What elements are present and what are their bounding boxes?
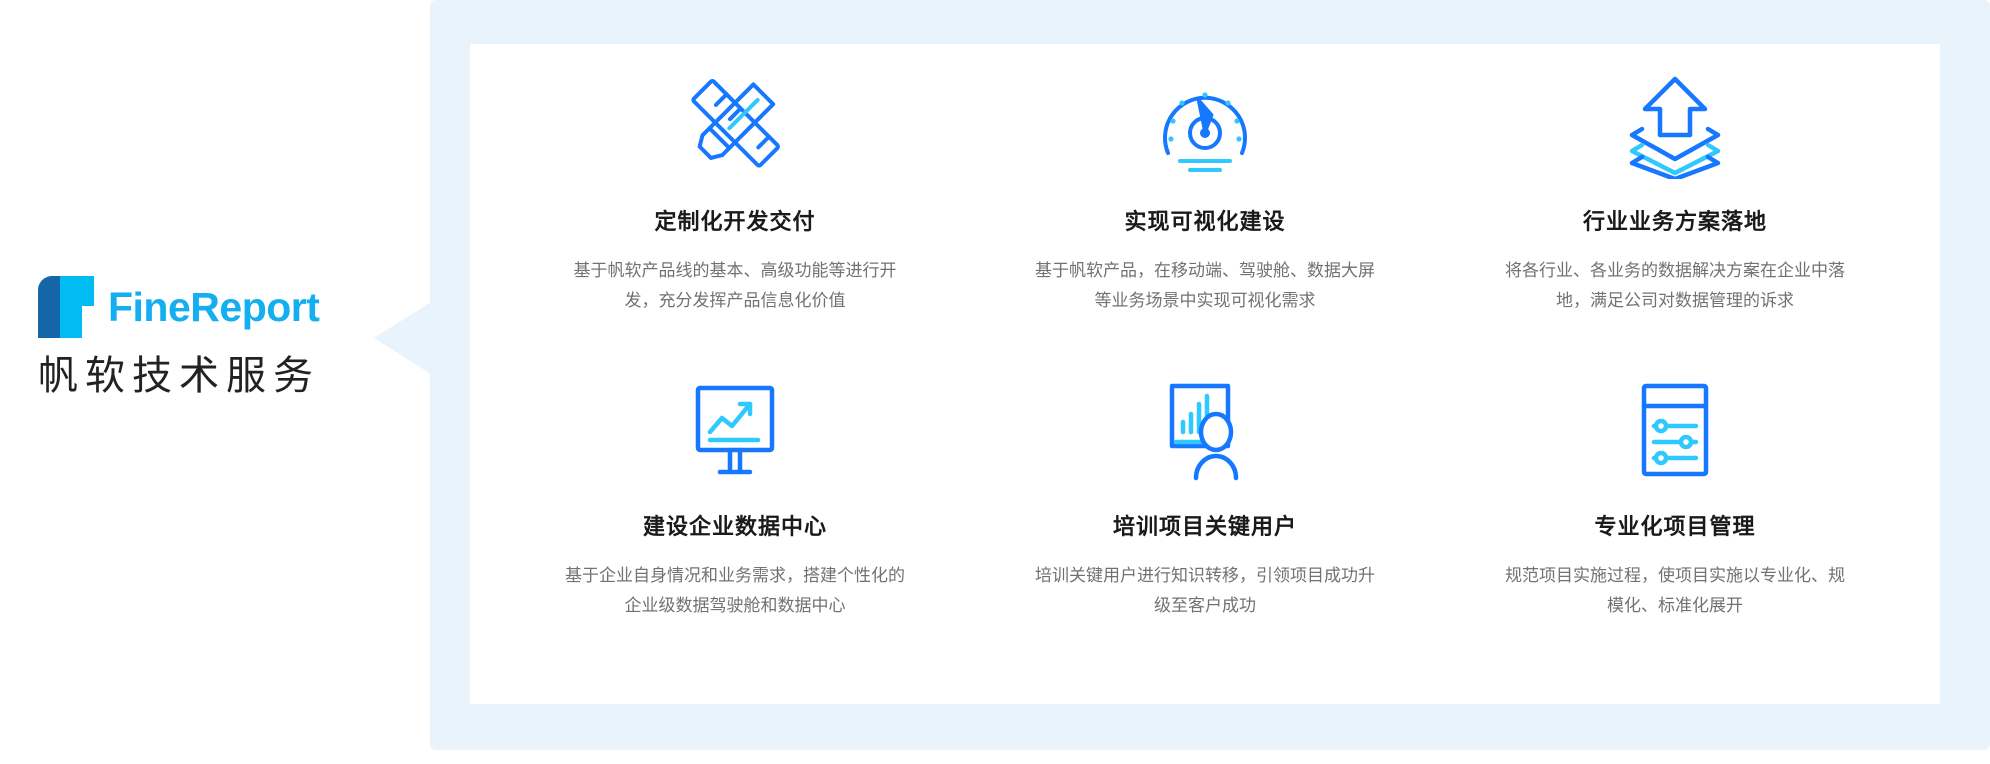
user-training-chart-icon: [1150, 371, 1260, 487]
feature-title: 专业化项目管理: [1594, 509, 1755, 541]
feature-item[interactable]: 建设企业数据中心 基于企业自身情况和业务需求，搭建个性化的企业级数据驾驶舱和数据…: [500, 371, 970, 676]
feature-title: 培训项目关键用户: [1113, 509, 1297, 541]
feature-title: 建设企业数据中心: [643, 509, 827, 541]
feature-grid: 定制化开发交付 基于帆软产品线的基本、高级功能等进行开发，充分发挥产品信息化价值: [470, 44, 1940, 704]
brand-wordmark: FineReport: [108, 287, 319, 328]
panel-arrow-notch: [374, 300, 434, 376]
feature-title: 实现可视化建设: [1124, 204, 1285, 236]
feature-item[interactable]: 定制化开发交付 基于帆软产品线的基本、高级功能等进行开发，充分发挥产品信息化价值: [500, 66, 970, 371]
feature-item[interactable]: 行业业务方案落地 将各行业、各业务的数据解决方案在企业中落地，满足公司对数据管理…: [1440, 66, 1910, 371]
brand-lockup: FineReport: [38, 276, 378, 338]
feature-item[interactable]: 实现可视化建设 基于帆软产品，在移动端、驾驶舱、数据大屏等业务场景中实现可视化需…: [970, 66, 1440, 371]
feature-description: 将各行业、各业务的数据解决方案在企业中落地，满足公司对数据管理的诉求: [1500, 256, 1850, 316]
feature-item[interactable]: 培训项目关键用户 培训关键用户进行知识转移，引领项目成功升级至客户成功: [970, 371, 1440, 676]
feature-description: 基于企业自身情况和业务需求，搭建个性化的企业级数据驾驶舱和数据中心: [560, 561, 910, 621]
brand-block: FineReport 帆软技术服务: [38, 276, 378, 398]
feature-description: 基于帆软产品线的基本、高级功能等进行开发，充分发挥产品信息化价值: [560, 256, 910, 316]
ruler-pencil-icon: [680, 66, 790, 182]
settings-sliders-panel-icon: [1620, 371, 1730, 487]
feature-description: 规范项目实施过程，使项目实施以专业化、规模化、标准化展开: [1500, 561, 1850, 621]
feature-title: 行业业务方案落地: [1583, 204, 1767, 236]
arrow-up-layers-icon: [1620, 66, 1730, 182]
finereport-logo-mark-icon: [38, 276, 94, 338]
brand-subtitle: 帆软技术服务: [38, 354, 378, 398]
feature-description: 基于帆软产品，在移动端、驾驶舱、数据大屏等业务场景中实现可视化需求: [1030, 256, 1380, 316]
feature-description: 培训关键用户进行知识转移，引领项目成功升级至客户成功: [1030, 561, 1380, 621]
gauge-dashboard-icon: [1150, 66, 1260, 182]
feature-title: 定制化开发交付: [654, 204, 815, 236]
chart-monitor-icon: [680, 371, 790, 487]
feature-item[interactable]: 专业化项目管理 规范项目实施过程，使项目实施以专业化、规模化、标准化展开: [1440, 371, 1910, 676]
